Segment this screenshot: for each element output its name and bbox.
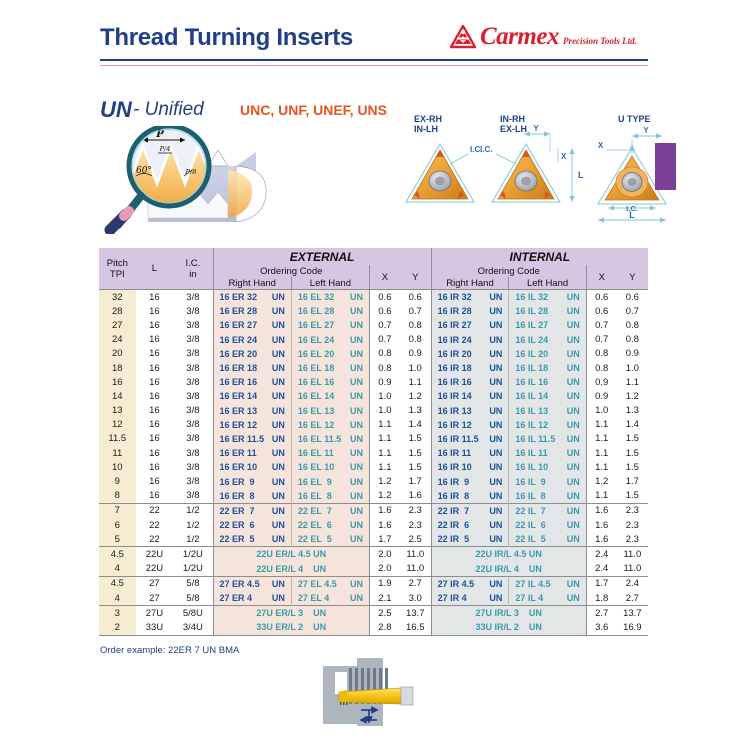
- cell-ic: 3/8: [173, 290, 213, 305]
- cell-internal-left-hand: 16 IL 27UN: [509, 318, 586, 332]
- cell-pitch: 4.5: [99, 547, 136, 562]
- cell-pitch: 3: [99, 606, 136, 621]
- svg-text:IN-RH: IN-RH: [500, 114, 525, 124]
- cell-pitch: 2: [99, 620, 136, 635]
- cell-internal-right-hand: 16 IR 8UN: [431, 489, 509, 504]
- cell-l: 22U: [136, 562, 174, 577]
- cell-internal-right-hand: 16 IR 18UN: [431, 361, 509, 375]
- cell-internal-left-hand: 16 IL 11UN: [509, 446, 586, 460]
- cell-ic: 3/8: [173, 389, 213, 403]
- cell-external-right-hand: 22 ER 6UN: [213, 518, 291, 532]
- table-row: 327U5/8U27U ER/L 3 UN2.513.727U IR/L 3 U…: [99, 606, 648, 621]
- carmex-emblem-icon: [450, 25, 476, 49]
- cell-external-right-hand: 16 ER 32UN: [213, 290, 291, 305]
- svg-text:U TYPE: U TYPE: [618, 114, 651, 124]
- cell-external-right-hand: 16 ER 18UN: [213, 361, 291, 375]
- table-row: 24163/816 ER 24UN16 EL 24UN0.70.816 IR 2…: [99, 333, 648, 347]
- cell-external-y: 0.8: [400, 333, 431, 347]
- cell-pitch: 13: [99, 404, 136, 418]
- svg-text:EX-RH: EX-RH: [414, 114, 442, 124]
- cell-ic: 1/2: [173, 518, 213, 532]
- insert-type-diagrams: I.C. EX-RH IN-LH I.C. L X: [400, 112, 690, 230]
- cell-internal-x: 1.6: [586, 503, 616, 518]
- cell-pitch: 4.5: [99, 576, 136, 591]
- cell-ic: 3/8: [173, 318, 213, 332]
- cell-internal-x: 1.2: [586, 474, 616, 488]
- cell-pitch: 4: [99, 591, 136, 606]
- cell-ic: 3/8: [173, 347, 213, 361]
- table-row: 28163/816 ER 28UN16 EL 28UN0.60.716 IR 2…: [99, 304, 648, 318]
- cell-internal-x: 1.0: [586, 404, 616, 418]
- cell-external-x: 1.2: [369, 489, 399, 504]
- svg-text:EX-LH: EX-LH: [500, 124, 527, 134]
- cell-external-right-hand: 16 ER 28UN: [213, 304, 291, 318]
- cell-external-left-hand: 16 EL 14UN: [291, 389, 369, 403]
- cell-ic: 3/8: [173, 474, 213, 488]
- cell-internal-left-hand: 16 IL 9UN: [509, 474, 586, 488]
- cell-internal-x: 0.7: [586, 318, 616, 332]
- cell-external-x: 0.8: [369, 347, 399, 361]
- cell-external-x: 0.7: [369, 333, 399, 347]
- cell-external-x: 0.7: [369, 318, 399, 332]
- cell-external-y: 1.5: [400, 460, 431, 474]
- cell-external-left-hand: 16 EL 11UN: [291, 446, 369, 460]
- cell-external-right-hand: 16 ER 11.5UN: [213, 432, 291, 446]
- cell-internal-code-merged: 22U IR/L 4 UN: [431, 562, 586, 577]
- cell-l: 16: [136, 347, 174, 361]
- table-row: 4275/827 ER 4UN27 EL 4UN2.13.027 IR 4UN2…: [99, 591, 648, 606]
- cell-internal-y: 2.7: [617, 591, 648, 606]
- cell-external-x: 2.5: [369, 606, 399, 621]
- cell-external-y: 1.2: [400, 389, 431, 403]
- cell-l: 16: [136, 375, 174, 389]
- cell-ic: 5/8: [173, 591, 213, 606]
- cell-external-x: 1.1: [369, 460, 399, 474]
- cell-internal-x: 2.4: [586, 547, 616, 562]
- cell-internal-x: 1.6: [586, 518, 616, 532]
- cell-external-x: 2.0: [369, 562, 399, 577]
- cell-internal-x: 2.4: [586, 562, 616, 577]
- cell-internal-y: 11.0: [617, 547, 648, 562]
- cell-ic: 3/8: [173, 418, 213, 432]
- cell-internal-y: 0.7: [617, 304, 648, 318]
- cell-external-y: 1.5: [400, 432, 431, 446]
- cell-ic: 3/4U: [173, 620, 213, 635]
- cell-internal-left-hand: 27 IL 4.5UN: [509, 576, 586, 591]
- svg-text:L: L: [629, 210, 635, 220]
- cell-external-y: 1.4: [400, 418, 431, 432]
- cell-internal-left-hand: 16 IL 10UN: [509, 460, 586, 474]
- cell-internal-right-hand: 16 IR 32UN: [431, 290, 509, 305]
- cell-internal-right-hand: 27 IR 4UN: [431, 591, 509, 606]
- cell-internal-right-hand: 16 IR 20UN: [431, 347, 509, 361]
- svg-text:Y: Y: [533, 124, 539, 133]
- cell-internal-y: 13.7: [617, 606, 648, 621]
- cell-l: 16: [136, 333, 174, 347]
- cell-external-x: 2.0: [369, 547, 399, 562]
- cell-external-code-merged: 27U ER/L 3 UN: [213, 606, 369, 621]
- table-row: 32163/816 ER 32UN16 EL 32UN0.60.616 IR 3…: [99, 290, 648, 305]
- header-internal-left-hand: Left Hand: [509, 277, 586, 290]
- table-row: 9163/816 ER 9UN16 EL 9UN1.21.716 IR 9UN1…: [99, 474, 648, 488]
- cell-internal-y: 0.6: [617, 290, 648, 305]
- cell-internal-x: 1.8: [586, 591, 616, 606]
- cell-internal-x: 0.6: [586, 290, 616, 305]
- cell-l: 22U: [136, 547, 174, 562]
- cell-external-right-hand: 16 ER 20UN: [213, 347, 291, 361]
- cell-internal-left-hand: 22 IL 7UN: [509, 503, 586, 518]
- table-header: Pitch TPI L I.C. in EXTERNAL INTERNAL Or…: [99, 248, 648, 290]
- cell-l: 16: [136, 304, 174, 318]
- cell-external-x: 1.1: [369, 418, 399, 432]
- cell-internal-x: 0.8: [586, 347, 616, 361]
- table-row: 13163/816 ER 13UN16 EL 13UN1.01.316 IR 1…: [99, 404, 648, 418]
- cell-external-x: 2.8: [369, 620, 399, 635]
- cell-external-y: 2.3: [400, 503, 431, 518]
- cell-external-left-hand: 16 EL 11.5UN: [291, 432, 369, 446]
- cell-pitch: 18: [99, 361, 136, 375]
- svg-text:X: X: [598, 141, 604, 150]
- cell-internal-y: 1.3: [617, 404, 648, 418]
- cell-l: 16: [136, 389, 174, 403]
- cell-external-x: 1.1: [369, 432, 399, 446]
- cell-external-code-merged: 22U ER/L 4.5 UN: [213, 547, 369, 562]
- svg-text:IN-LH: IN-LH: [414, 124, 438, 134]
- cell-external-x: 1.6: [369, 503, 399, 518]
- table-body: 32163/816 ER 32UN16 EL 32UN0.60.616 IR 3…: [99, 290, 648, 636]
- cell-pitch: 9: [99, 474, 136, 488]
- cell-internal-left-hand: 16 IL 28UN: [509, 304, 586, 318]
- cell-internal-y: 2.3: [617, 503, 648, 518]
- cell-l: 33U: [136, 620, 174, 635]
- cell-external-right-hand: 27 ER 4UN: [213, 591, 291, 606]
- header-internal: INTERNAL: [431, 248, 648, 265]
- cell-pitch: 12: [99, 418, 136, 432]
- cell-internal-y: 16.9: [617, 620, 648, 635]
- cell-external-left-hand: 16 EL 9UN: [291, 474, 369, 488]
- cell-external-y: 0.7: [400, 304, 431, 318]
- cell-internal-x: 1.1: [586, 446, 616, 460]
- cell-internal-x: 0.8: [586, 361, 616, 375]
- cell-external-right-hand: 22 ER 5UN: [213, 532, 291, 547]
- cell-external-left-hand: 16 EL 27UN: [291, 318, 369, 332]
- cell-internal-x: 1.7: [586, 576, 616, 591]
- cell-ic: 1/2: [173, 532, 213, 547]
- cell-external-right-hand: 16 ER 8UN: [213, 489, 291, 504]
- table-row: 4.522U1/2U22U ER/L 4.5 UN2.011.022U IR/L…: [99, 547, 648, 562]
- cell-internal-left-hand: 16 IL 12UN: [509, 418, 586, 432]
- cell-external-right-hand: 16 ER 11UN: [213, 446, 291, 460]
- cell-internal-right-hand: 16 IR 16UN: [431, 375, 509, 389]
- cell-internal-right-hand: 16 IR 12UN: [431, 418, 509, 432]
- table-row: 6221/222 ER 6UN22 EL 6UN1.62.322 IR 6UN2…: [99, 518, 648, 532]
- header-external-left-hand: Left Hand: [291, 277, 369, 290]
- header-internal-ordering-code: Ordering Code: [431, 265, 586, 277]
- cell-external-x: 0.6: [369, 304, 399, 318]
- cell-external-left-hand: 22 EL 5UN: [291, 532, 369, 547]
- cell-internal-y: 1.1: [617, 375, 648, 389]
- cell-external-code-merged: 22U ER/L 4 UN: [213, 562, 369, 577]
- table-row: 8163/816 ER 8UN16 EL 8UN1.21.616 IR 8UN1…: [99, 489, 648, 504]
- cell-pitch: 5: [99, 532, 136, 547]
- cell-internal-y: 1.7: [617, 474, 648, 488]
- cell-l: 27: [136, 576, 174, 591]
- cell-external-y: 1.5: [400, 446, 431, 460]
- header-internal-x: X: [586, 265, 616, 290]
- cell-internal-left-hand: 16 IL 32UN: [509, 290, 586, 305]
- cell-l: 16: [136, 489, 174, 504]
- table-row: 5221/222 ER 5UN22 EL 5UN1.72.522 IR 5UN2…: [99, 532, 648, 547]
- cell-external-left-hand: 22 EL 6UN: [291, 518, 369, 532]
- cell-external-right-hand: 16 ER 13UN: [213, 404, 291, 418]
- cell-external-y: 3.0: [400, 591, 431, 606]
- header-ic: I.C. in: [173, 248, 213, 290]
- cell-internal-left-hand: 16 IL 24UN: [509, 333, 586, 347]
- cell-internal-left-hand: 16 IL 20UN: [509, 347, 586, 361]
- cell-internal-y: 1.0: [617, 361, 648, 375]
- cell-ic: 3/8: [173, 489, 213, 504]
- table-row: 12163/816 ER 12UN16 EL 12UN1.11.416 IR 1…: [99, 418, 648, 432]
- cell-external-right-hand: 16 ER 9UN: [213, 474, 291, 488]
- svg-text:P/8: P/8: [185, 168, 197, 176]
- cell-l: 16: [136, 404, 174, 418]
- cell-internal-left-hand: 27 IL 4UN: [509, 591, 586, 606]
- cell-pitch: 32: [99, 290, 136, 305]
- cell-l: 16: [136, 290, 174, 305]
- cell-l: 22: [136, 518, 174, 532]
- table-row: 20163/816 ER 20UN16 EL 20UN0.80.916 IR 2…: [99, 347, 648, 361]
- cell-internal-x: 1.1: [586, 432, 616, 446]
- cell-external-left-hand: 16 EL 10UN: [291, 460, 369, 474]
- cell-internal-right-hand: 16 IR 28UN: [431, 304, 509, 318]
- insert-specification-table: Pitch TPI L I.C. in EXTERNAL INTERNAL Or…: [99, 248, 648, 636]
- cell-ic: 1/2U: [173, 562, 213, 577]
- cell-external-left-hand: 16 EL 18UN: [291, 361, 369, 375]
- cell-ic: 5/8U: [173, 606, 213, 621]
- cell-internal-x: 1.1: [586, 418, 616, 432]
- cell-external-x: 1.2: [369, 474, 399, 488]
- header-l: L: [136, 248, 174, 290]
- header-pitch: Pitch TPI: [99, 248, 136, 290]
- cell-internal-y: 1.5: [617, 489, 648, 504]
- cell-ic: 3/8: [173, 446, 213, 460]
- thread-code: UN: [100, 97, 132, 123]
- cell-external-y: 11.0: [400, 562, 431, 577]
- header-rule-primary: [100, 59, 648, 61]
- cell-external-x: 0.9: [369, 375, 399, 389]
- header-internal-right-hand: Right Hand: [431, 277, 509, 290]
- cell-pitch: 8: [99, 489, 136, 504]
- svg-text:Y: Y: [643, 126, 649, 135]
- thread-standards: UNC, UNF, UNEF, UNS: [240, 102, 387, 118]
- cell-internal-y: 0.8: [617, 318, 648, 332]
- cell-internal-left-hand: 22 IL 6UN: [509, 518, 586, 532]
- cell-ic: 3/8: [173, 404, 213, 418]
- cell-pitch: 11.5: [99, 432, 136, 446]
- cell-external-left-hand: 16 EL 13UN: [291, 404, 369, 418]
- cell-pitch: 16: [99, 375, 136, 389]
- cell-internal-x: 1.6: [586, 532, 616, 547]
- thread-name: - Unified: [133, 99, 204, 121]
- cell-external-right-hand: 27 ER 4.5UN: [213, 576, 291, 591]
- cell-external-y: 11.0: [400, 547, 431, 562]
- cell-external-left-hand: 16 EL 28UN: [291, 304, 369, 318]
- cell-ic: 1/2: [173, 503, 213, 518]
- table-row: 16163/816 ER 16UN16 EL 16UN0.91.116 IR 1…: [99, 375, 648, 389]
- cell-internal-x: 1.1: [586, 489, 616, 504]
- brand-name: Carmex: [480, 24, 559, 49]
- cell-internal-right-hand: 16 IR 24UN: [431, 333, 509, 347]
- cell-internal-left-hand: 16 IL 16UN: [509, 375, 586, 389]
- cell-external-y: 1.6: [400, 489, 431, 504]
- section-color-tab: [655, 143, 676, 190]
- cell-external-left-hand: 22 EL 7UN: [291, 503, 369, 518]
- cell-pitch: 28: [99, 304, 136, 318]
- cell-pitch: 27: [99, 318, 136, 332]
- cell-external-code-merged: 33U ER/L 2 UN: [213, 620, 369, 635]
- cell-internal-x: 0.7: [586, 333, 616, 347]
- table-row: 27163/816 ER 27UN16 EL 27UN0.70.816 IR 2…: [99, 318, 648, 332]
- cell-ic: 3/8: [173, 432, 213, 446]
- cell-external-y: 2.5: [400, 532, 431, 547]
- cell-external-x: 1.1: [369, 446, 399, 460]
- svg-text:L: L: [578, 170, 584, 180]
- cell-external-right-hand: 22 ER 7UN: [213, 503, 291, 518]
- cell-internal-x: 3.6: [586, 620, 616, 635]
- header-external-right-hand: Right Hand: [213, 277, 291, 290]
- cell-pitch: 7: [99, 503, 136, 518]
- cell-internal-code-merged: 33U IR/L 2 UN: [431, 620, 586, 635]
- cell-l: 16: [136, 460, 174, 474]
- cell-l: 16: [136, 432, 174, 446]
- header-external-x: X: [369, 265, 399, 290]
- cell-internal-right-hand: 16 IR 27UN: [431, 318, 509, 332]
- cell-external-left-hand: 16 EL 24UN: [291, 333, 369, 347]
- cell-external-left-hand: 27 EL 4.5UN: [291, 576, 369, 591]
- cell-internal-right-hand: 16 IR 9UN: [431, 474, 509, 488]
- cell-internal-right-hand: 27 IR 4.5UN: [431, 576, 509, 591]
- cell-internal-code-merged: 22U IR/L 4.5 UN: [431, 547, 586, 562]
- cell-internal-y: 2.4: [617, 576, 648, 591]
- cell-pitch: 10: [99, 460, 136, 474]
- cell-internal-right-hand: 22 IR 5UN: [431, 532, 509, 547]
- cell-internal-left-hand: 16 IL 14UN: [509, 389, 586, 403]
- brand-tagline: Precision Tools Ltd.: [563, 36, 637, 49]
- table-row: 14163/816 ER 14UN16 EL 14UN1.01.216 IR 1…: [99, 389, 648, 403]
- cell-internal-x: 0.6: [586, 304, 616, 318]
- cell-internal-right-hand: 16 IR 14UN: [431, 389, 509, 403]
- cell-internal-right-hand: 22 IR 6UN: [431, 518, 509, 532]
- cell-internal-right-hand: 16 IR 13UN: [431, 404, 509, 418]
- cell-pitch: 24: [99, 333, 136, 347]
- cell-external-y: 13.7: [400, 606, 431, 621]
- cell-external-x: 2.1: [369, 591, 399, 606]
- cell-external-right-hand: 16 ER 16UN: [213, 375, 291, 389]
- cell-external-x: 1.0: [369, 389, 399, 403]
- cell-ic: 3/8: [173, 333, 213, 347]
- cell-external-right-hand: 16 ER 10UN: [213, 460, 291, 474]
- cell-internal-y: 2.3: [617, 518, 648, 532]
- cell-external-x: 1.9: [369, 576, 399, 591]
- table-row: 422U1/2U22U ER/L 4 UN2.011.022U IR/L 4 U…: [99, 562, 648, 577]
- table-row: 11163/816 ER 11UN16 EL 11UN1.11.516 IR 1…: [99, 446, 648, 460]
- cell-external-left-hand: 27 EL 4UN: [291, 591, 369, 606]
- cell-internal-y: 0.9: [617, 347, 648, 361]
- cell-internal-y: 11.0: [617, 562, 648, 577]
- cell-external-y: 16.5: [400, 620, 431, 635]
- cell-external-x: 1.6: [369, 518, 399, 532]
- header-internal-y: Y: [617, 265, 648, 290]
- carmex-logo: Carmex Precision Tools Ltd.: [450, 24, 637, 49]
- cell-internal-y: 1.2: [617, 389, 648, 403]
- cell-internal-x: 2.7: [586, 606, 616, 621]
- cell-l: 27U: [136, 606, 174, 621]
- cell-internal-right-hand: 16 IR 11UN: [431, 446, 509, 460]
- cell-l: 16: [136, 474, 174, 488]
- cell-external-right-hand: 16 ER 14UN: [213, 389, 291, 403]
- svg-text:I.C.: I.C.: [480, 145, 492, 154]
- cell-internal-y: 2.3: [617, 532, 648, 547]
- cell-internal-x: 0.9: [586, 375, 616, 389]
- cell-internal-x: 0.9: [586, 389, 616, 403]
- cell-internal-code-merged: 27U IR/L 3 UN: [431, 606, 586, 621]
- cell-internal-y: 1.5: [617, 432, 648, 446]
- cell-l: 27: [136, 591, 174, 606]
- cell-internal-left-hand: 16 IL 11.5UN: [509, 432, 586, 446]
- cell-internal-right-hand: 16 IR 11.5UN: [431, 432, 509, 446]
- cell-internal-left-hand: 16 IL 18UN: [509, 361, 586, 375]
- header-external: EXTERNAL: [213, 248, 431, 265]
- cell-l: 16: [136, 318, 174, 332]
- table-row: 4.5275/827 ER 4.5UN27 EL 4.5UN1.92.727 I…: [99, 576, 648, 591]
- cell-external-y: 0.9: [400, 347, 431, 361]
- cell-internal-left-hand: 16 IL 8UN: [509, 489, 586, 504]
- cell-external-left-hand: 16 EL 20UN: [291, 347, 369, 361]
- cell-external-right-hand: 16 ER 12UN: [213, 418, 291, 432]
- table-row: 10163/816 ER 10UN16 EL 10UN1.11.516 IR 1…: [99, 460, 648, 474]
- cell-internal-y: 1.4: [617, 418, 648, 432]
- svg-text:P/4: P/4: [159, 145, 171, 153]
- cell-external-y: 2.3: [400, 518, 431, 532]
- cell-l: 16: [136, 361, 174, 375]
- cell-external-y: 1.3: [400, 404, 431, 418]
- cell-external-left-hand: 16 EL 16UN: [291, 375, 369, 389]
- cell-ic: 3/8: [173, 304, 213, 318]
- cell-internal-left-hand: 22 IL 5UN: [509, 532, 586, 547]
- cell-internal-x: 1.1: [586, 460, 616, 474]
- header-rule-secondary: [100, 65, 648, 66]
- threading-operation-illustration: [305, 658, 455, 744]
- cell-pitch: 11: [99, 446, 136, 460]
- cell-pitch: 4: [99, 562, 136, 577]
- order-example: Order example: 22ER 7 UN BMA: [100, 645, 239, 656]
- cell-external-left-hand: 16 EL 8UN: [291, 489, 369, 504]
- cell-pitch: 20: [99, 347, 136, 361]
- cell-internal-left-hand: 16 IL 13UN: [509, 404, 586, 418]
- cell-external-y: 1.1: [400, 375, 431, 389]
- cell-external-left-hand: 16 EL 12UN: [291, 418, 369, 432]
- catalog-page: Thread Turning Inserts Carmex Precision …: [0, 0, 747, 747]
- cell-l: 16: [136, 418, 174, 432]
- cell-external-right-hand: 16 ER 27UN: [213, 318, 291, 332]
- cell-external-x: 0.8: [369, 361, 399, 375]
- cell-external-y: 0.8: [400, 318, 431, 332]
- cell-external-x: 1.0: [369, 404, 399, 418]
- cell-pitch: 6: [99, 518, 136, 532]
- cell-ic: 3/8: [173, 460, 213, 474]
- table-row: 7221/222 ER 7UN22 EL 7UN1.62.322 IR 7UN2…: [99, 503, 648, 518]
- page-title: Thread Turning Inserts: [100, 24, 353, 52]
